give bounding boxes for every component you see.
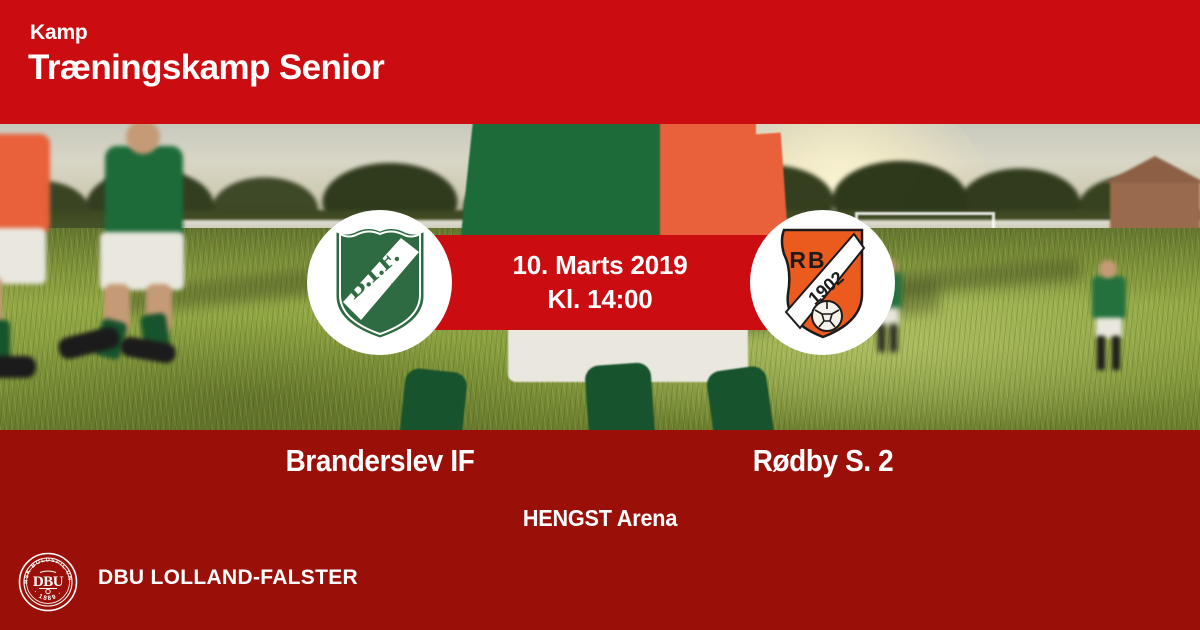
svg-text:RB: RB (789, 247, 826, 273)
rodby-s-crest-icon: RB 1902 (770, 224, 876, 342)
player-green-mid (100, 232, 184, 290)
player-foreground-leg (584, 362, 662, 430)
dbu-seal-logo: DANSK BOLDSPIL UNION · 1889 · DBU (18, 552, 78, 612)
distant-player (1092, 276, 1126, 320)
match-venue: HENGST Arena (36, 505, 1164, 532)
away-team-name: Rødby S. 2 (634, 443, 1012, 479)
distant-player (878, 324, 885, 352)
header-kicker: Kamp (30, 21, 88, 45)
distant-player (1099, 260, 1117, 278)
match-poster: Kamp Træningskamp Senior (0, 0, 1200, 630)
home-team-crest: B.I.F. 1942 (307, 210, 452, 355)
distant-player (890, 324, 897, 352)
poster-header: Kamp Træningskamp Senior (0, 0, 1200, 124)
away-team-crest: RB 1902 (750, 210, 895, 355)
player-orange-left (0, 356, 36, 378)
match-date: 10. Marts 2019 (513, 249, 688, 283)
distant-player (1096, 318, 1122, 338)
branderslev-if-crest-icon: B.I.F. 1942 (327, 224, 433, 342)
match-time: Kl. 14:00 (547, 283, 652, 317)
player-orange-left (0, 134, 50, 234)
player-orange-left (0, 228, 46, 284)
svg-text:DBU: DBU (33, 574, 64, 590)
player-green-mid (105, 146, 183, 238)
organisation-name: DBU LOLLAND-FALSTER (98, 566, 358, 590)
dbu-seal-icon: DANSK BOLDSPIL UNION · 1889 · DBU (18, 552, 78, 612)
distant-player (1097, 336, 1105, 370)
home-team-name: Branderslev IF (191, 443, 569, 479)
page-title: Træningskamp Senior (28, 50, 384, 85)
distant-player (1112, 336, 1120, 370)
